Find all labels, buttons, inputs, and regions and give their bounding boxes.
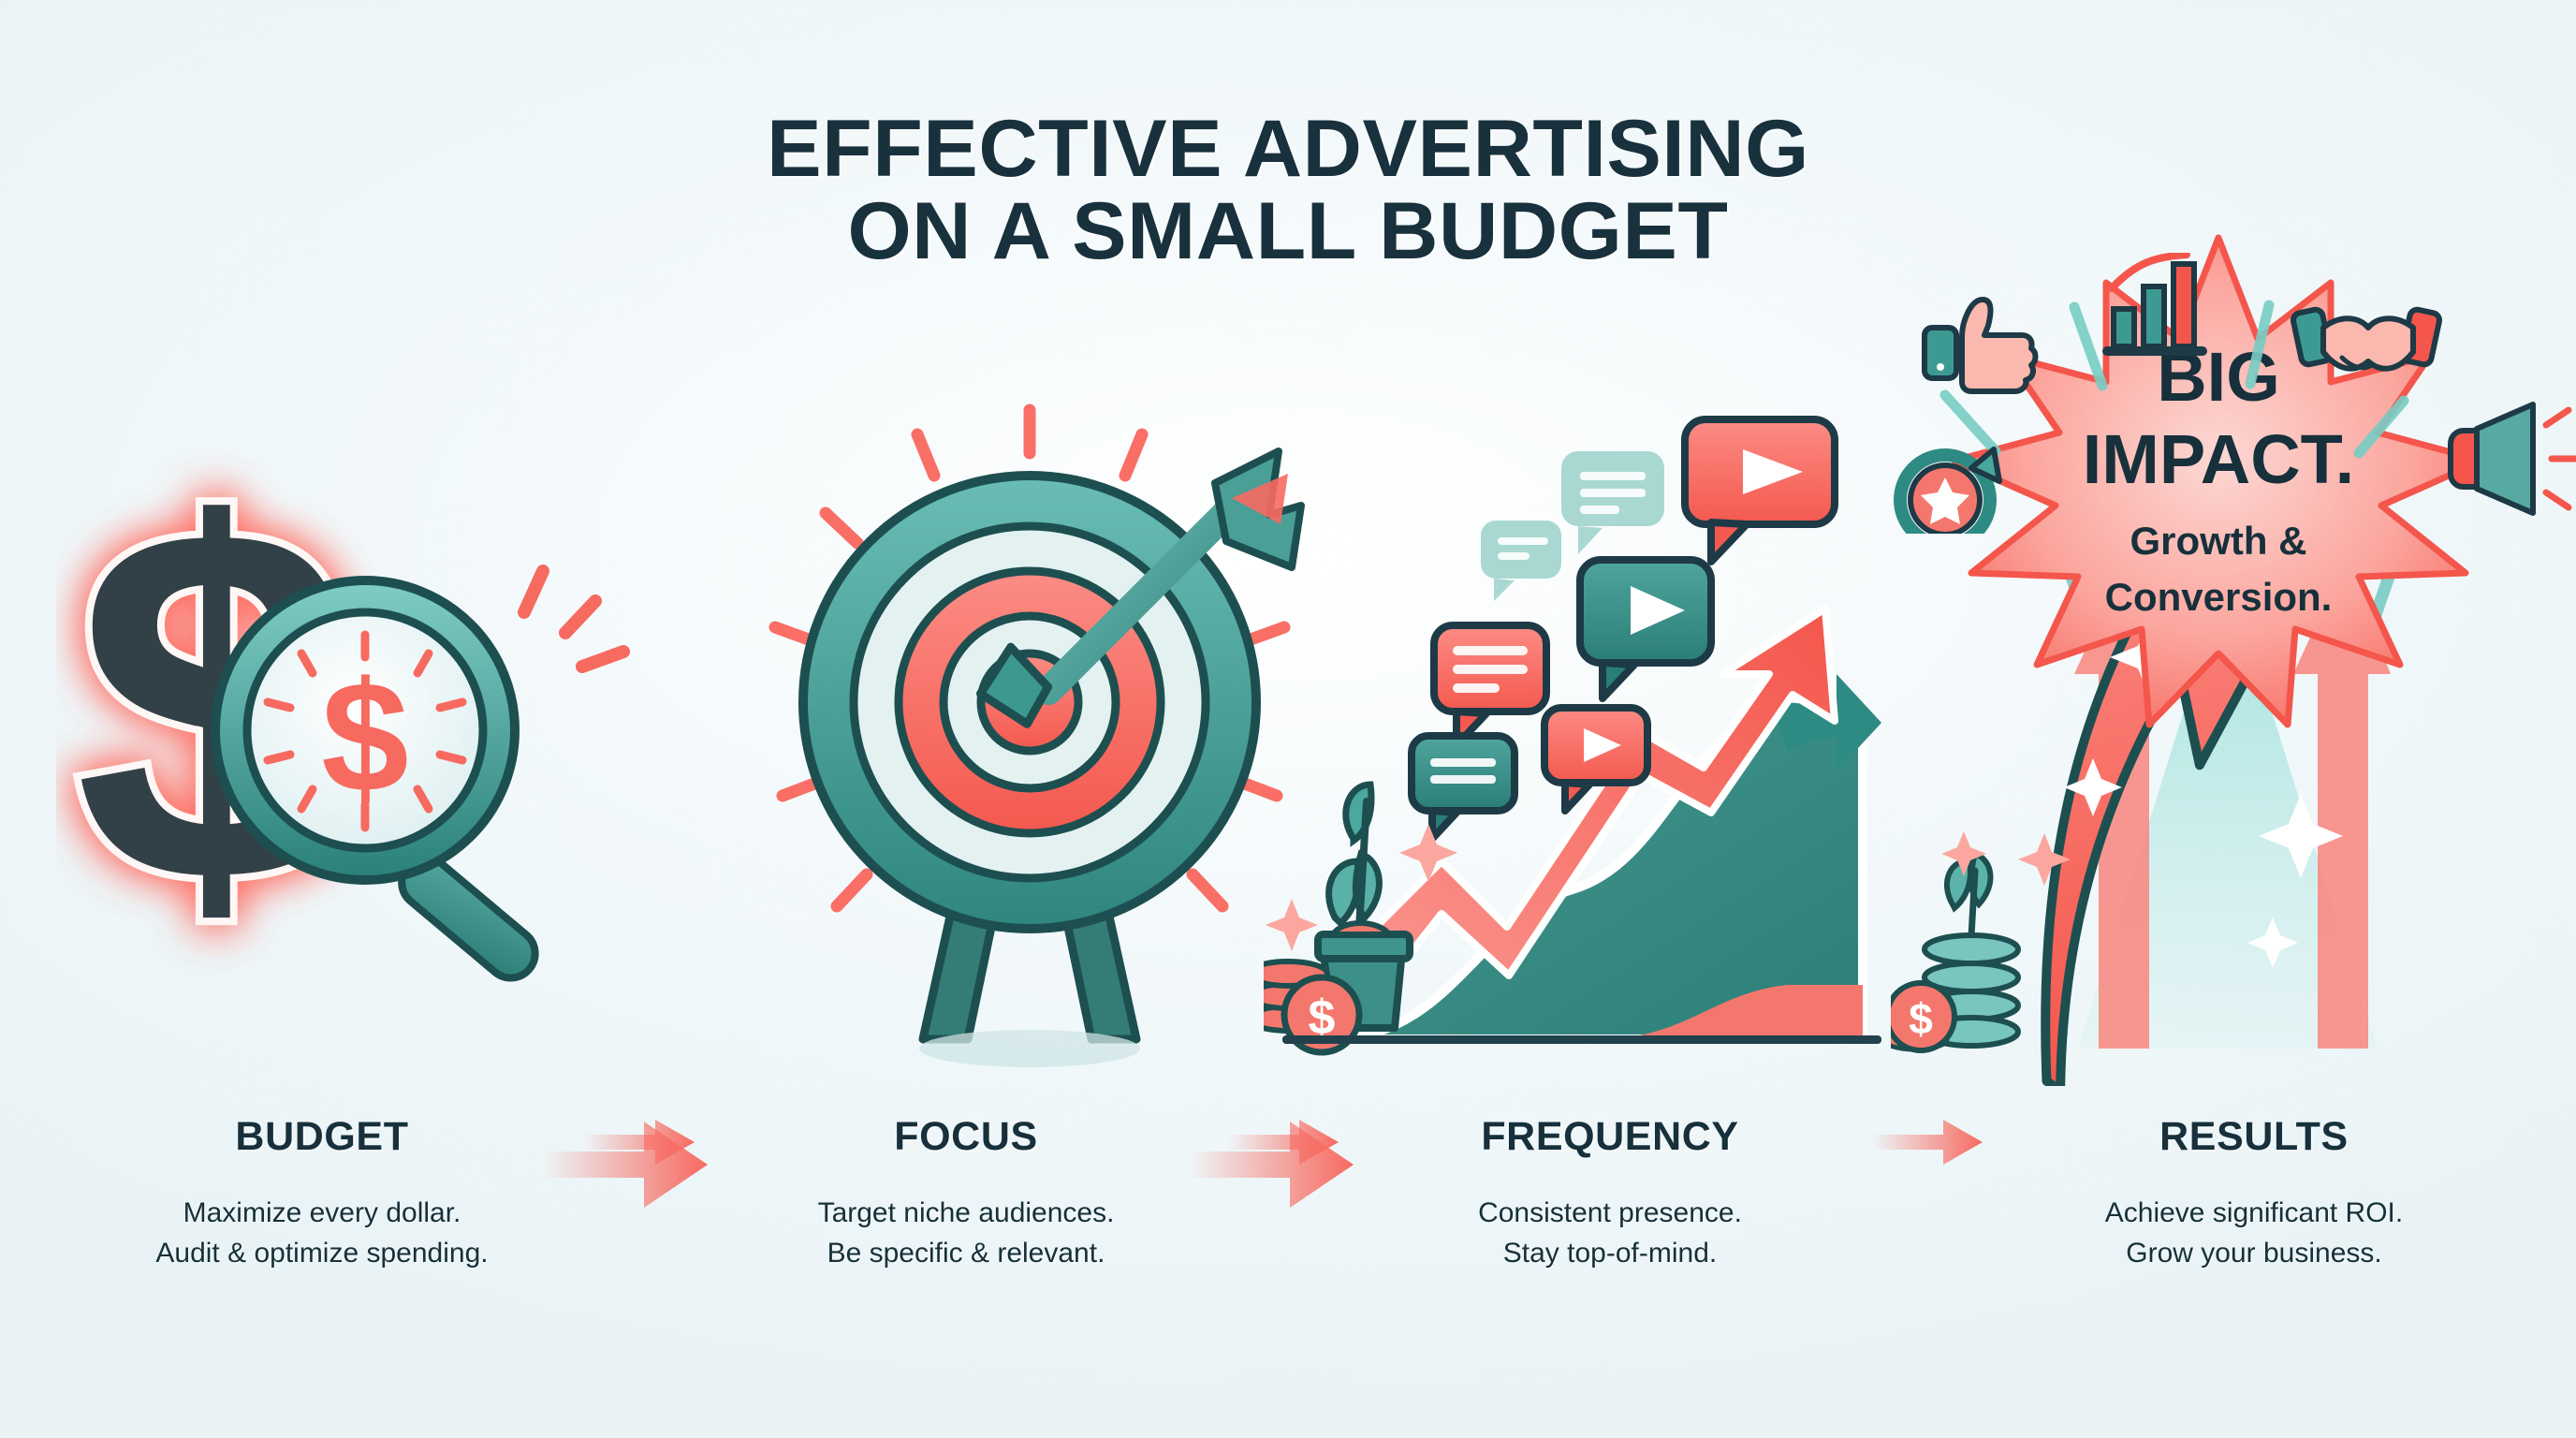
bubble-text-coral <box>1434 625 1546 745</box>
stage-labels-row: BUDGET Maximize every dollar. Audit & op… <box>0 1114 2576 1273</box>
stage-title-frequency: FREQUENCY <box>1288 1114 1932 1160</box>
stage-desc-budget: Maximize every dollar. Audit & optimize … <box>0 1194 644 1273</box>
coins-plant-growth: $ <box>1891 854 2018 1050</box>
stage-label-results: RESULTS Achieve significant ROI. Grow yo… <box>1932 1114 2576 1273</box>
burst-sub-2: Conversion. <box>2105 575 2333 619</box>
bubble-video-teal <box>1580 560 1711 698</box>
bubble-video-coral-large <box>1685 419 1835 562</box>
bubble-text-pale-1 <box>1561 451 1664 554</box>
stage-art-frequency: $ <box>1264 393 1938 1086</box>
stage-title-focus: FOCUS <box>644 1114 1288 1160</box>
bubble-text-teal-small <box>1412 736 1515 839</box>
shine-lines <box>524 571 623 667</box>
stage-title-budget: BUDGET <box>0 1114 644 1160</box>
ground-shadow <box>919 1030 1140 1067</box>
stage-art-focus <box>739 393 1320 1086</box>
title-line-1: EFFECTIVE ADVERTISING <box>0 109 2576 191</box>
chart-baseline <box>1282 1035 1881 1044</box>
svg-text:$: $ <box>321 649 408 825</box>
stage-label-focus: FOCUS Target niche audiences. Be specifi… <box>644 1114 1288 1273</box>
stage-desc-results: Achieve significant ROI. Grow your busin… <box>1932 1194 2576 1273</box>
stage-label-budget: BUDGET Maximize every dollar. Audit & op… <box>0 1114 644 1273</box>
burst-headline-1: BIG <box>2157 338 2280 416</box>
target-arrow-icon <box>739 393 1320 1086</box>
growth-chart-bubbles-icon: $ <box>1264 393 1938 1086</box>
stage-title-results: RESULTS <box>1932 1114 2576 1160</box>
burst-sub-1: Growth & <box>2130 519 2307 563</box>
stage-desc-focus: Target niche audiences. Be specific & re… <box>644 1194 1288 1273</box>
dollar-magnifier-icon: $ $ <box>56 393 693 1086</box>
page-title: EFFECTIVE ADVERTISING ON A SMALL BUDGET <box>0 109 2576 272</box>
big-impact-burst: BIG IMPACT. Growth & Conversion. <box>1891 215 2546 740</box>
burst-headline-2: IMPACT. <box>2083 420 2355 498</box>
stage-desc-frequency: Consistent presence. Stay top-of-mind. <box>1288 1194 1932 1273</box>
bubble-text-pale-2 <box>1481 521 1561 601</box>
stage-label-frequency: FREQUENCY Consistent presence. Stay top-… <box>1288 1114 1932 1273</box>
stage-art-budget: $ $ <box>56 393 693 1086</box>
title-line-2: ON A SMALL BUDGET <box>0 191 2576 273</box>
svg-text:$: $ <box>1909 994 1933 1043</box>
